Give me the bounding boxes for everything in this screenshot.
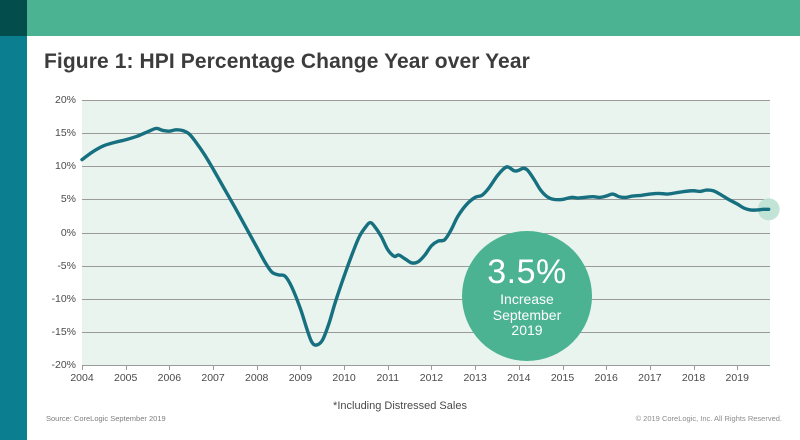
x-tick-mark <box>257 365 258 370</box>
x-tick-mark <box>475 365 476 370</box>
x-tick-mark <box>737 365 738 370</box>
series-line-chart <box>82 100 770 365</box>
chart-figure: 20%15%10%5%0%-5%-10%-15%-20% 20042005200… <box>0 0 800 440</box>
x-tick-mark <box>606 365 607 370</box>
x-tick-label: 2009 <box>276 372 324 384</box>
y-tick-label: -5% <box>16 260 76 272</box>
x-tick-mark <box>126 365 127 370</box>
x-tick-label: 2006 <box>145 372 193 384</box>
x-tick-label: 2018 <box>670 372 718 384</box>
y-tick-label: 0% <box>16 227 76 239</box>
x-tick-mark <box>169 365 170 370</box>
x-tick-mark <box>650 365 651 370</box>
callout-line-2: September <box>493 308 561 324</box>
y-tick-label: 10% <box>16 160 76 172</box>
x-tick-mark <box>300 365 301 370</box>
x-tick-label: 2013 <box>451 372 499 384</box>
x-tick-label: 2015 <box>539 372 587 384</box>
series-line-path <box>82 128 769 345</box>
callout-line-1: Increase <box>500 292 554 308</box>
y-tick-label: 5% <box>16 193 76 205</box>
x-tick-label: 2016 <box>582 372 630 384</box>
callout-line-3: 2019 <box>511 323 542 339</box>
x-tick-label: 2004 <box>58 372 106 384</box>
source-note: Source: CoreLogic September 2019 <box>46 414 166 423</box>
callout-bubble: 3.5% Increase September 2019 <box>462 231 592 361</box>
x-tick-mark <box>694 365 695 370</box>
y-tick-label: 15% <box>16 127 76 139</box>
x-tick-label: 2017 <box>626 372 674 384</box>
footnote-distressed-sales: *Including Distressed Sales <box>0 400 800 412</box>
x-tick-mark <box>82 365 83 370</box>
callout-value: 3.5% <box>487 253 567 291</box>
x-tick-mark <box>563 365 564 370</box>
y-tick-label: -10% <box>16 293 76 305</box>
x-tick-label: 2010 <box>320 372 368 384</box>
y-tick-label: 20% <box>16 94 76 106</box>
copyright-note: © 2019 CoreLogic, Inc. All Rights Reserv… <box>636 414 782 423</box>
x-tick-mark <box>213 365 214 370</box>
x-tick-label: 2014 <box>495 372 543 384</box>
x-tick-mark <box>519 365 520 370</box>
y-tick-label: -15% <box>16 326 76 338</box>
x-tick-mark <box>344 365 345 370</box>
gridline <box>82 365 770 366</box>
x-tick-mark <box>431 365 432 370</box>
x-tick-label: 2008 <box>233 372 281 384</box>
x-tick-label: 2007 <box>189 372 237 384</box>
x-tick-label: 2005 <box>102 372 150 384</box>
x-tick-label: 2011 <box>364 372 412 384</box>
x-tick-label: 2019 <box>713 372 761 384</box>
y-tick-label: -20% <box>16 359 76 371</box>
x-tick-label: 2012 <box>407 372 455 384</box>
x-tick-mark <box>388 365 389 370</box>
